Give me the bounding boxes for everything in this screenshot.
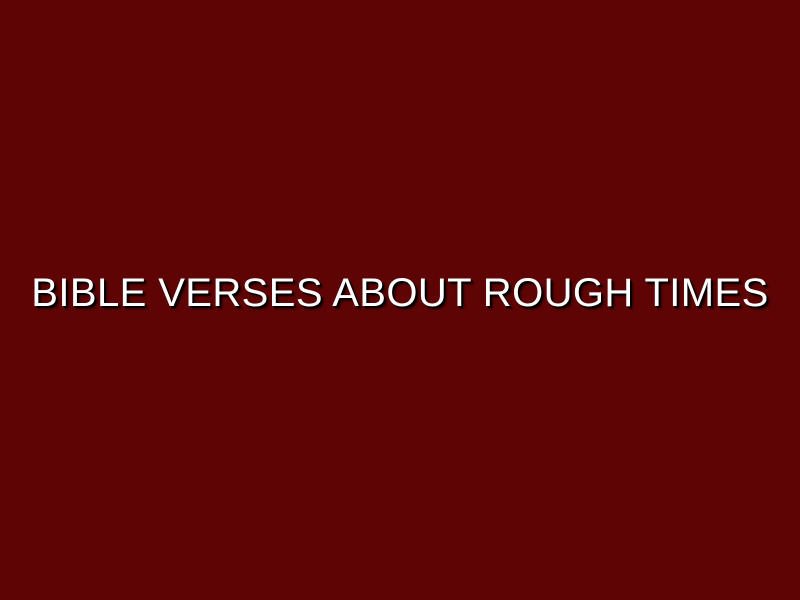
title-card: BIBLE VERSES ABOUT ROUGH TIMES [0, 0, 800, 600]
page-title: BIBLE VERSES ABOUT ROUGH TIMES [31, 272, 768, 314]
